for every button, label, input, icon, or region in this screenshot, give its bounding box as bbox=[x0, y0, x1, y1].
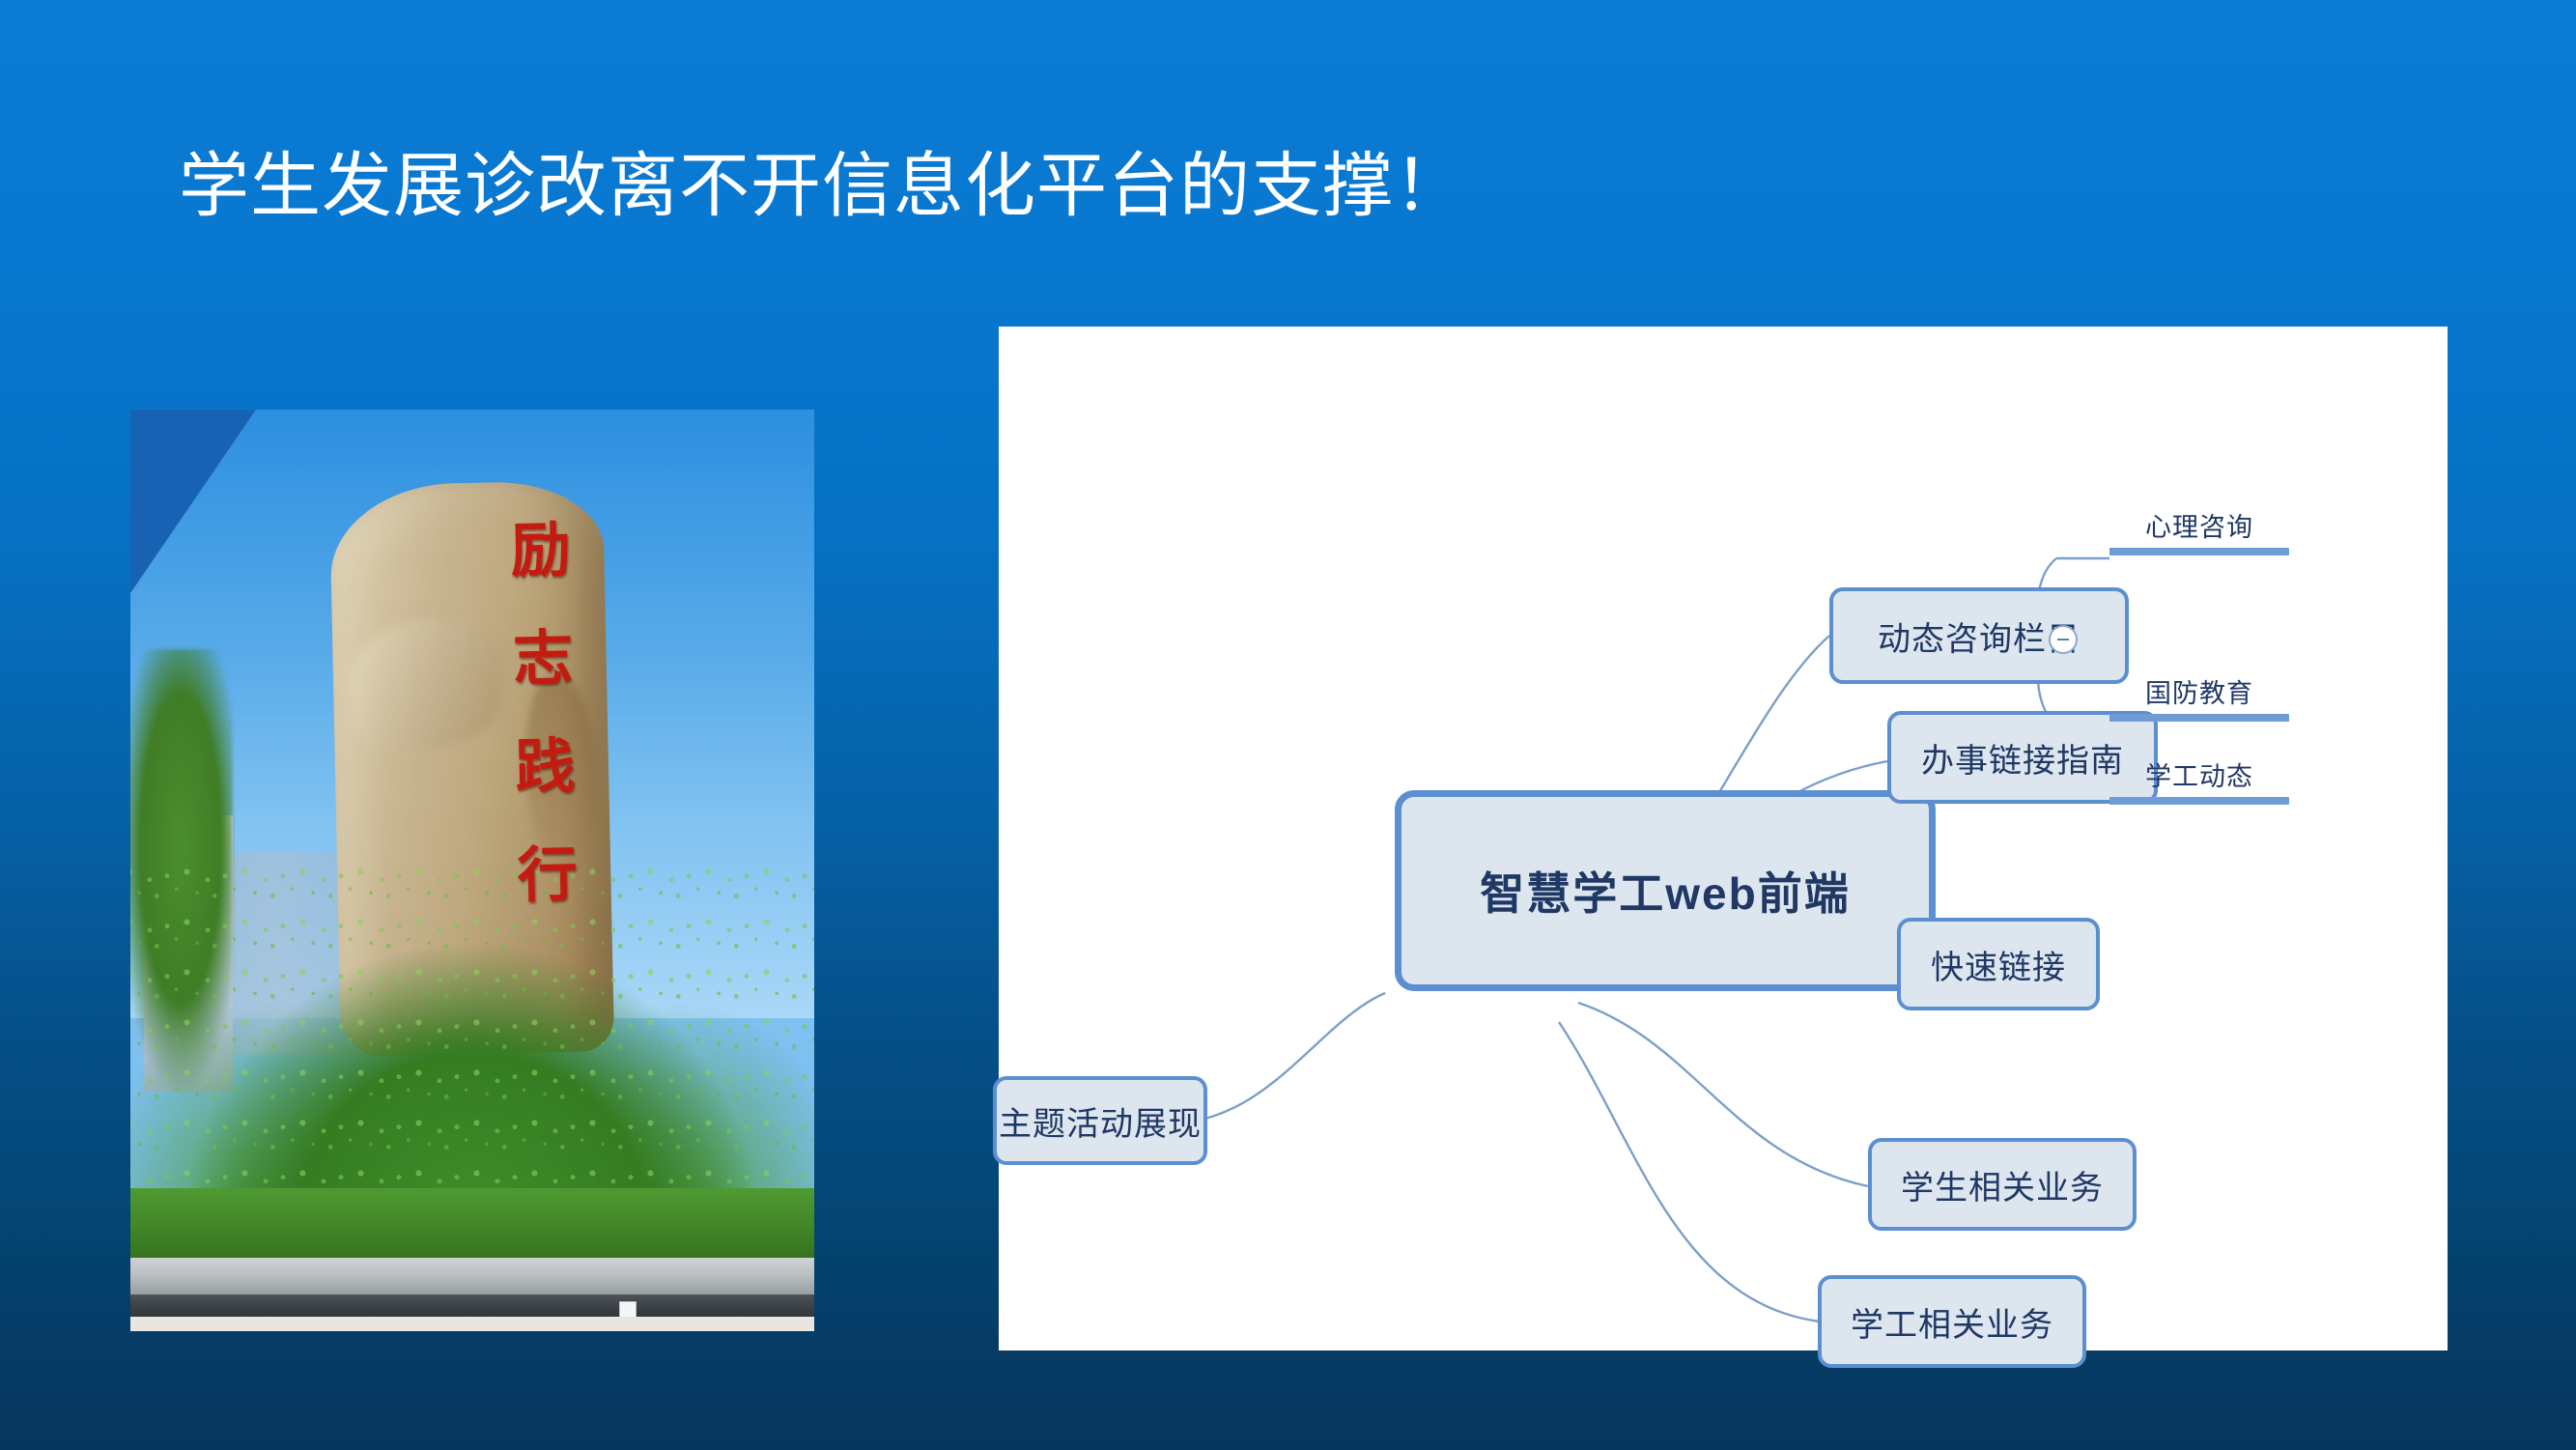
mindmap-subnode-defense-education[interactable]: 国防教育 bbox=[2109, 672, 2289, 722]
mindmap-node-center-label: 智慧学工web前端 bbox=[1480, 859, 1850, 923]
collapse-toggle-icon[interactable] bbox=[2049, 625, 2078, 654]
mindmap-node-student-business-label: 学生相关业务 bbox=[1901, 1161, 2104, 1208]
photo-corner-wedge bbox=[130, 410, 256, 593]
mindmap-subnode-defense-education-bar bbox=[2109, 714, 2289, 722]
mindmap-subnode-defense-education-label: 国防教育 bbox=[2109, 672, 2289, 714]
slide-canvas: 学生发展诊改离不开信息化平台的支撑！ 励 志 践 行 bbox=[0, 0, 2576, 1450]
mindmap-node-quick-links[interactable]: 快速链接 bbox=[1897, 918, 2100, 1010]
minus-icon bbox=[2057, 639, 2069, 640]
mindmap-node-center[interactable]: 智慧学工web前端 bbox=[1395, 790, 1936, 991]
mindmap-subnode-psych-counseling[interactable]: 心理咨询 bbox=[2109, 506, 2289, 555]
mindmap-subnode-affairs-news-label: 学工动态 bbox=[2109, 755, 2289, 797]
mindmap-node-theme-activity[interactable]: 主题活动展现 bbox=[993, 1076, 1207, 1165]
carving-char-4: 行 bbox=[517, 826, 579, 914]
mindmap-node-quick-links-label: 快速链接 bbox=[1931, 941, 2066, 988]
link-to-student-business bbox=[1578, 1003, 1868, 1186]
mindmap-node-student-business[interactable]: 学生相关业务 bbox=[1868, 1138, 2137, 1231]
shrub-foliage-texture bbox=[130, 861, 814, 1230]
carving-char-1: 励 bbox=[510, 501, 572, 589]
carving-char-3: 践 bbox=[515, 718, 577, 806]
mindmap-panel: 智慧学工web前端 动态咨询栏目 办事链接指南 快速链接 学生相关业务 学工相关… bbox=[999, 327, 2448, 1350]
mindmap-node-dynamic-column[interactable]: 动态咨询栏目 bbox=[1829, 587, 2129, 684]
page-title: 学生发展诊改离不开信息化平台的支撑！ bbox=[179, 147, 1465, 226]
mindmap-node-affairs-business-label: 学工相关业务 bbox=[1851, 1298, 2053, 1346]
stone-carving-text: 励 志 践 行 bbox=[482, 500, 607, 914]
campus-photo: 励 志 践 行 bbox=[130, 410, 814, 1331]
mindmap-subnode-psych-counseling-bar bbox=[2109, 548, 2289, 555]
mindmap-subnode-psych-counseling-label: 心理咨询 bbox=[2109, 506, 2289, 548]
link-to-affairs-business bbox=[1559, 1022, 1820, 1322]
mindmap-subnode-affairs-news-bar bbox=[2109, 797, 2289, 805]
walkway-strip bbox=[130, 1317, 814, 1331]
carving-char-2: 志 bbox=[512, 610, 574, 697]
grass-strip bbox=[130, 1188, 814, 1262]
mindmap-subnode-affairs-news[interactable]: 学工动态 bbox=[2109, 755, 2289, 805]
mindmap-node-service-guide-label: 办事链接指南 bbox=[1921, 734, 2124, 782]
curb-strip bbox=[130, 1294, 814, 1319]
mindmap-node-affairs-business[interactable]: 学工相关业务 bbox=[1818, 1275, 2086, 1368]
mindmap-node-theme-activity-label: 主题活动展现 bbox=[999, 1097, 1202, 1145]
